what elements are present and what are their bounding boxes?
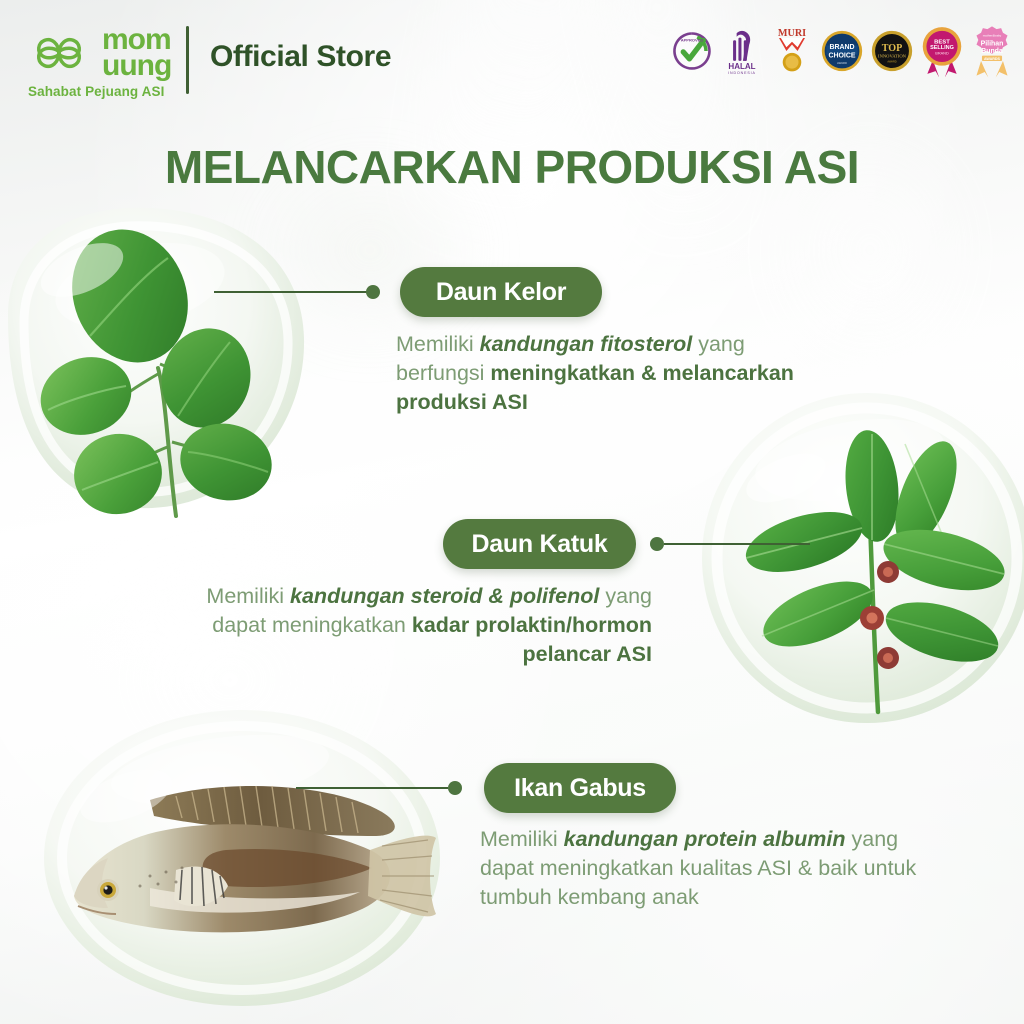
svg-text:mother&baby: mother&baby [983, 33, 1002, 37]
desc-part-bold-italic: kandungan fitosterol [480, 332, 693, 356]
bpom-approved-badge: APPROVED [670, 22, 714, 80]
snakehead-fish-photo [30, 700, 450, 1020]
connector-dot-kelor [366, 285, 380, 299]
brand-choice-badge: BRAND CHOICE AWARD [820, 22, 864, 80]
certification-badges: APPROVED HALAL INDONESIA MURI [670, 22, 1014, 80]
svg-text:AWARDS: AWARDS [984, 57, 1001, 61]
svg-text:BRAND: BRAND [935, 52, 949, 56]
label-text-daun-katuk: Daun Katuk [472, 530, 608, 559]
description-daun-katuk: Memiliki kandungan steroid & polifenol y… [200, 582, 652, 669]
connector-line-gabus [296, 787, 448, 789]
svg-text:APPROVED: APPROVED [681, 37, 704, 42]
description-ikan-gabus: Memiliki kandungan protein albumin yang … [480, 825, 920, 912]
label-pill-daun-katuk[interactable]: Daun Katuk [443, 519, 636, 569]
svg-text:AWARD: AWARD [837, 61, 847, 65]
desc-part-bold-italic: kandungan protein albumin [564, 827, 846, 851]
connector-line-katuk [664, 543, 810, 545]
svg-text:TOP: TOP [882, 43, 903, 54]
desc-part-bold-italic: kandungan steroid & polifenol [290, 584, 599, 608]
svg-text:SELLING: SELLING [930, 45, 954, 51]
svg-text:Pilihan: Pilihan [981, 41, 1004, 48]
official-store-label: Official Store [210, 40, 391, 74]
best-selling-brand-badge: BEST SELLING BRAND [920, 22, 964, 80]
label-text-daun-kelor: Daun Kelor [436, 278, 566, 307]
svg-text:AWARD: AWARD [887, 59, 896, 63]
mom-uung-knot-logo-icon [28, 22, 90, 84]
page-title: MELANCARKAN PRODUKSI ASI [0, 140, 1024, 194]
svg-text:Bunda: Bunda [981, 48, 1003, 55]
label-text-ikan-gabus: Ikan Gabus [514, 774, 646, 803]
connector-line-kelor [214, 291, 372, 293]
desc-part-regular: Memiliki [480, 827, 564, 851]
infographic-canvas: mom uung Sahabat Pejuang ASI Official St… [0, 0, 1024, 1024]
svg-text:INNOVATION: INNOVATION [878, 53, 907, 58]
moringa-leaves-photo [0, 196, 320, 546]
svg-text:BRAND: BRAND [829, 44, 854, 51]
desc-part-bold: kadar prolaktin/hormon pelancar ASI [412, 613, 652, 666]
desc-part-regular: Memiliki [206, 584, 290, 608]
connector-dot-katuk [650, 537, 664, 551]
brand-wordmark: mom uung [102, 25, 171, 81]
description-daun-kelor: Memiliki kandungan fitosterol yang berfu… [396, 330, 826, 417]
header-bar: mom uung Sahabat Pejuang ASI Official St… [0, 0, 1024, 116]
svg-text:MURI: MURI [778, 28, 806, 39]
pilihan-bunda-awards-badge: mother&baby Pilihan Bunda AWARDS [970, 22, 1014, 80]
top-innovation-badge: TOP INNOVATION AWARD [870, 22, 914, 80]
label-pill-daun-kelor[interactable]: Daun Kelor [400, 267, 602, 317]
brand-word-bottom: uung [102, 51, 171, 81]
muri-record-badge: MURI [770, 22, 814, 80]
vertical-divider-icon [186, 26, 189, 94]
connector-dot-gabus [448, 781, 462, 795]
katuk-leaves-photo [700, 382, 1024, 734]
svg-text:INDONESIA: INDONESIA [728, 71, 756, 75]
label-pill-ikan-gabus[interactable]: Ikan Gabus [484, 763, 676, 813]
desc-part-regular: Memiliki [396, 332, 480, 356]
brand-lockup: mom uung [28, 22, 171, 84]
svg-text:CHOICE: CHOICE [828, 52, 855, 59]
svg-text:HALAL: HALAL [728, 62, 755, 71]
halal-indonesia-badge: HALAL INDONESIA [720, 22, 764, 80]
brand-tagline: Sahabat Pejuang ASI [28, 84, 164, 99]
